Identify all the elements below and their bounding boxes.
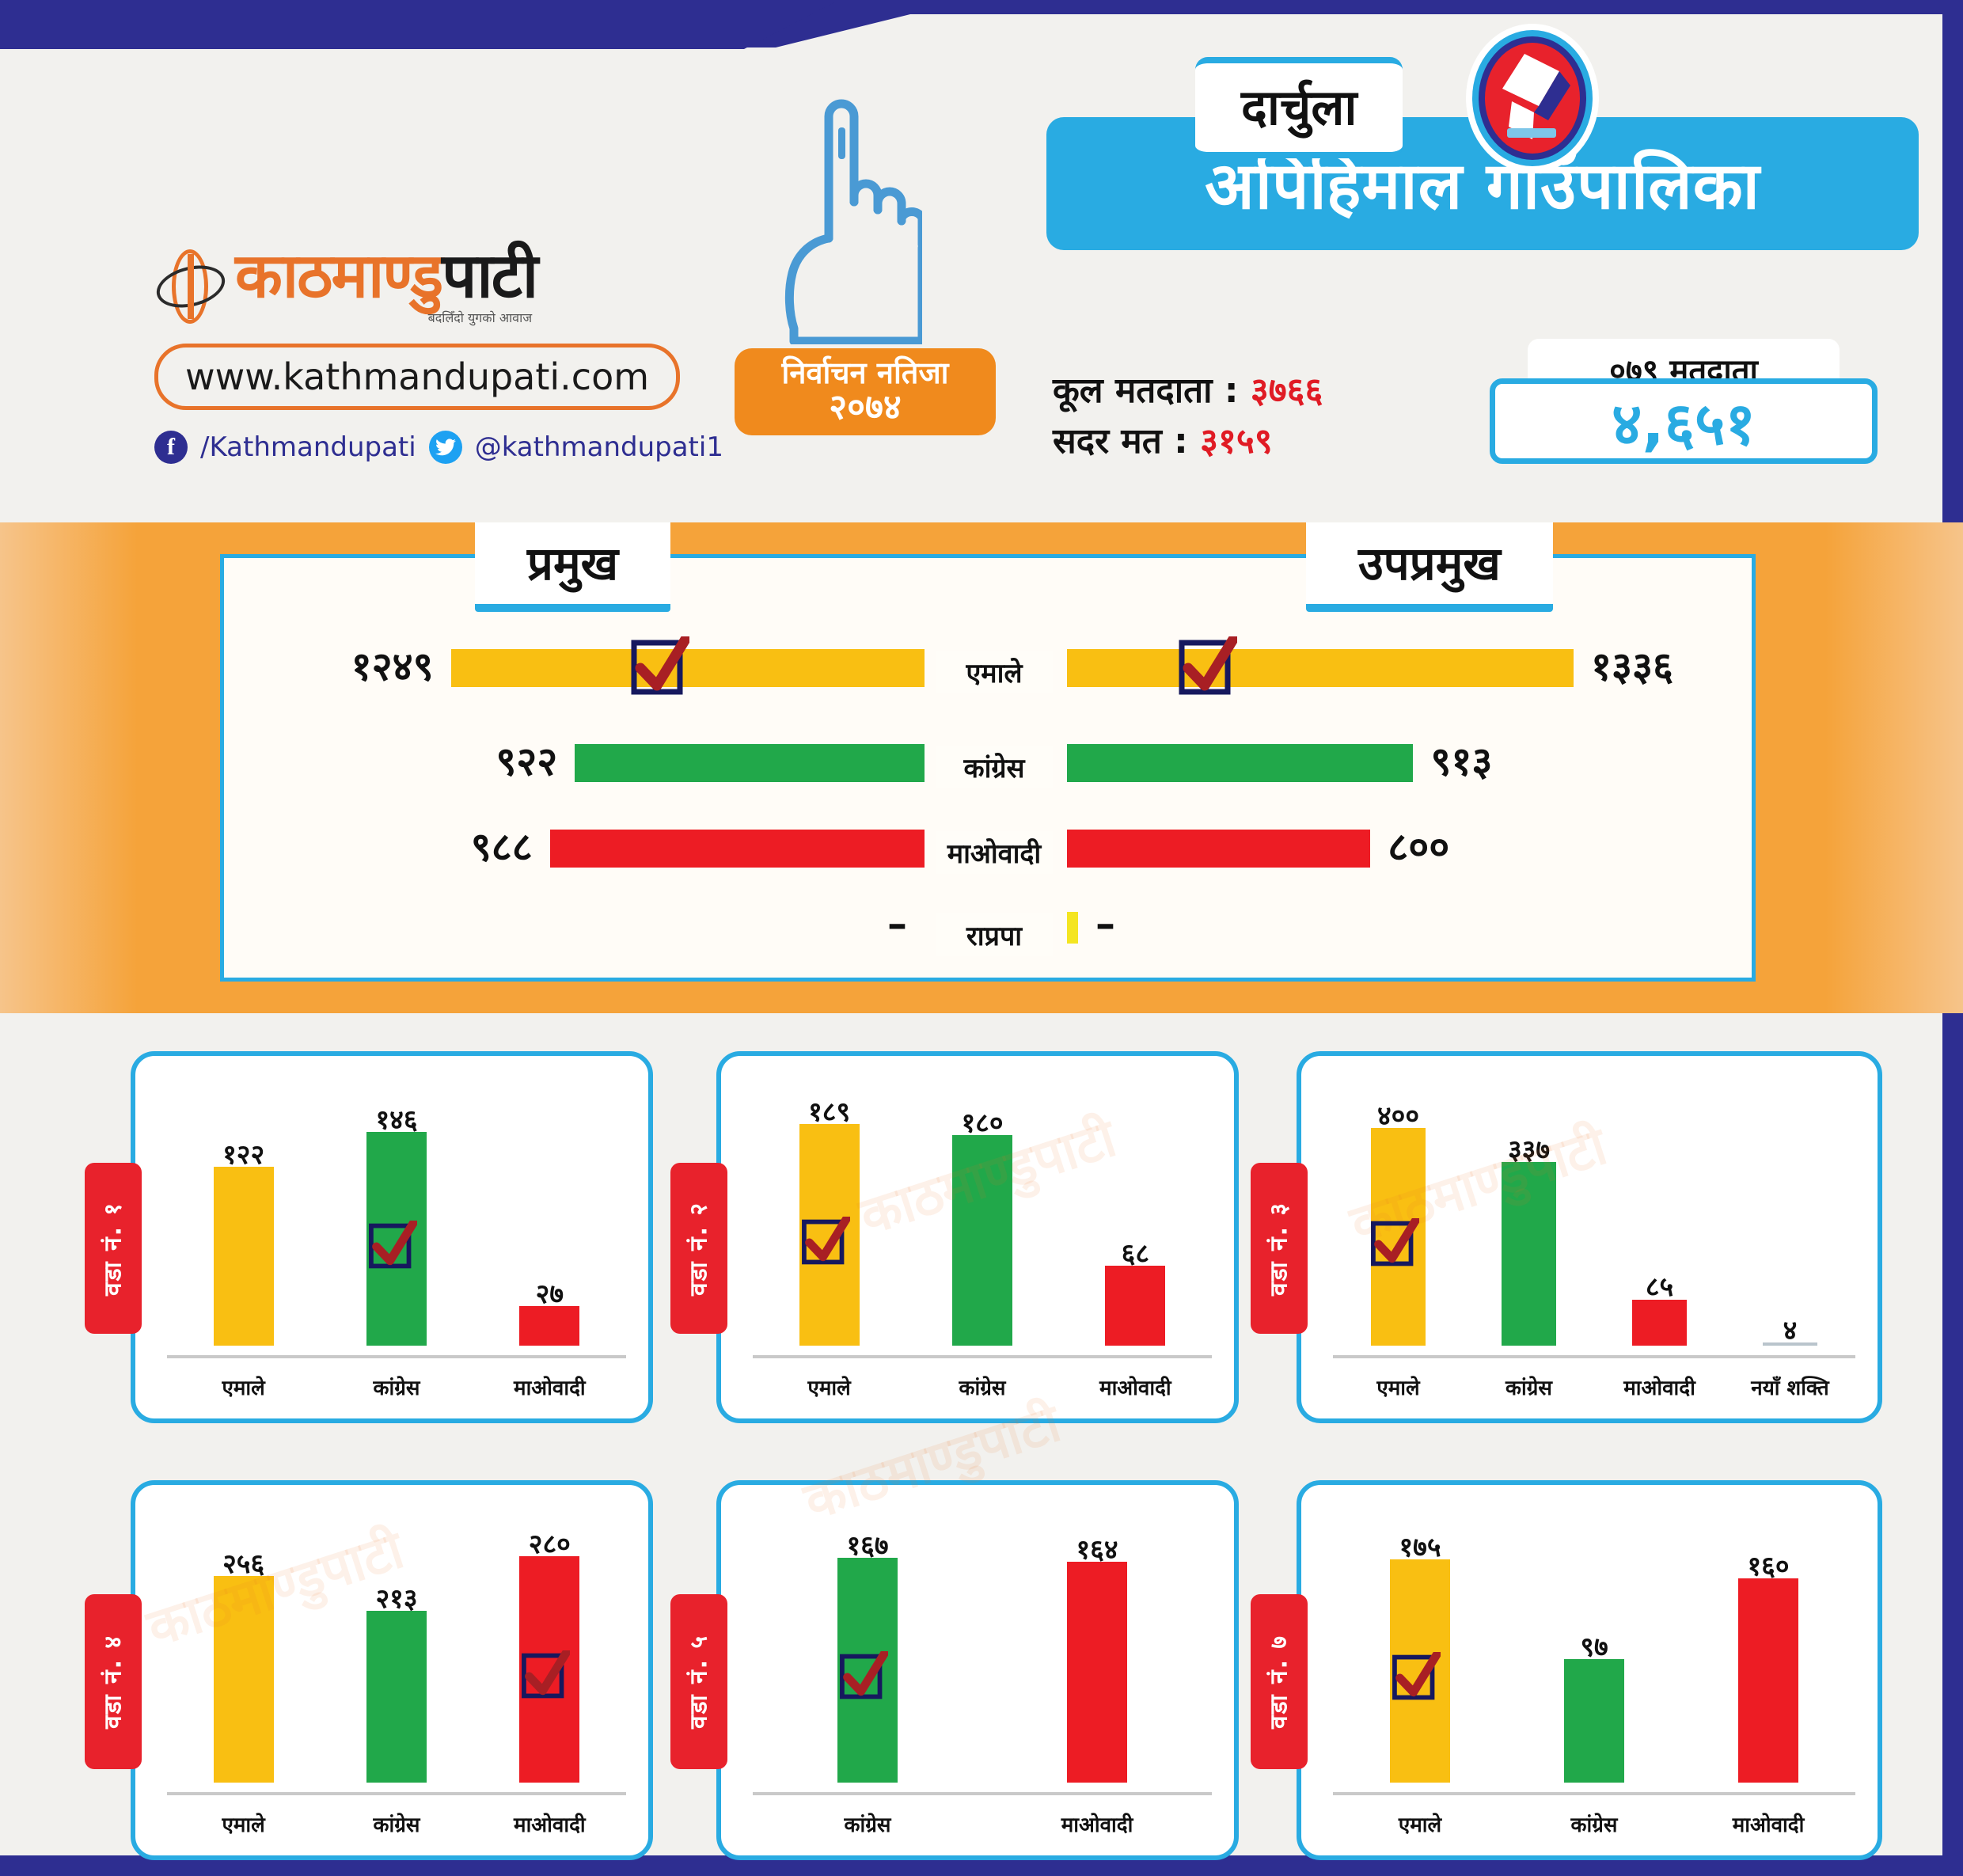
mayor-bar-value: १२४९ [351, 638, 434, 692]
ward-bar-value: १६७ [812, 1526, 923, 1563]
deputy-bar-value: – [1095, 901, 1115, 947]
brand-block: काठमाण्डुपाटी बदलिँदो युगको आवाज www.kat… [154, 245, 661, 464]
ward-bar-value: १८९ [774, 1092, 885, 1129]
ward-bar-value: २७ [494, 1274, 605, 1311]
twitter-icon[interactable] [429, 431, 462, 464]
ward-chart-axis [753, 1792, 1212, 1795]
ward-bar-value: २५६ [188, 1544, 299, 1581]
ward-category-label: कांग्रेस [1458, 1373, 1600, 1401]
ward-category-label: एमाले [173, 1373, 315, 1401]
total-voters-row: कूल मतदाता : ३७६६ [1053, 366, 1323, 416]
ward-category-label: नयाँ शक्ति [1719, 1373, 1862, 1401]
ward-category-label: माओवादी [1026, 1810, 1168, 1838]
ward-bar-value: १२२ [188, 1135, 299, 1172]
ward-category-label: कांग्रेस [1523, 1810, 1665, 1838]
ward-chart-axis [167, 1355, 626, 1358]
ward-winner-check-icon [839, 1651, 887, 1700]
ward-category-label: एमाले [1327, 1373, 1470, 1401]
mayor-winner-check-icon [631, 636, 689, 698]
ward-bar-value: ४ [1735, 1311, 1846, 1347]
ward-bar-value: १६४ [1042, 1530, 1152, 1566]
ward-winner-check-icon [1370, 1218, 1418, 1267]
mayor-bar-row: ९२२ [575, 744, 925, 782]
ward-card[interactable]: १६७कांग्रेस१६४माओवादी [716, 1480, 1239, 1860]
ward-bar-value: २८० [494, 1525, 605, 1561]
header: काठमाण्डुपाटी बदलिँदो युगको आवाज www.kat… [0, 0, 1963, 522]
ward-number-tag: वडा नं. ४ [85, 1594, 142, 1769]
election-commission-seal-icon [1466, 24, 1599, 173]
ward-bar-value: २१३ [341, 1579, 452, 1616]
deputy-bar-row: ९१३ [1067, 744, 1413, 782]
ward-number-tag: वडा नं. ५ [670, 1594, 727, 1769]
ward-bar-value: १६० [1713, 1547, 1824, 1583]
ward-bar [1564, 1659, 1624, 1783]
brand-name-part1: काठमाण्डु [235, 241, 442, 312]
ward-card[interactable]: १२२एमाले१४६कांग्रेस२७माओवादी [131, 1051, 653, 1423]
mayor-bar [575, 744, 925, 782]
deputy-bar [1067, 830, 1370, 868]
website-url[interactable]: www.kathmandupati.com [154, 344, 680, 410]
ward-chart-axis [753, 1355, 1212, 1358]
ward-category-label: एमाले [173, 1810, 315, 1838]
ward-winner-check-icon [368, 1221, 416, 1270]
total-voters-value: ३७६६ [1251, 370, 1323, 411]
ward-number-tag: वडा नं. ७ [1251, 1594, 1308, 1769]
ward-number-tag: वडा नं. २ [670, 1163, 727, 1334]
valid-votes-value: ३१५९ [1200, 421, 1273, 461]
ward-bar-value: ३३७ [1474, 1130, 1585, 1167]
total-voters-label: कूल मतदाता : [1053, 370, 1238, 411]
social-links: f /Kathmandupati @kathmandupati1 [154, 431, 661, 464]
valid-votes-label: सदर मत : [1053, 421, 1188, 461]
ward-card[interactable]: १८९एमाले१८०कांग्रेस६८माओवादी [716, 1051, 1239, 1423]
brand-wordmark: काठमाण्डुपाटी [235, 245, 537, 307]
deputy-bar [1067, 912, 1078, 944]
ward-bar-value: १४६ [341, 1100, 452, 1137]
mayor-title: प्रमुख [475, 522, 670, 612]
ward-number-tag: वडा नं. ३ [1251, 1163, 1308, 1334]
election-result-badge: निर्वाचन नतिजा २०७४ [735, 348, 996, 435]
deputy-bar-row: – [1067, 912, 1078, 950]
ward-bar [214, 1167, 274, 1346]
ward-number-tag: वडा नं. १ [85, 1163, 142, 1334]
mayor-bar-row: ९८८ [550, 830, 925, 868]
party-label: एमाले [936, 651, 1053, 693]
deputy-bar-row: १३३६ [1067, 649, 1574, 687]
ward-card[interactable]: ४००एमाले३३७कांग्रेस८५माओवादी४नयाँ शक्ति [1297, 1051, 1882, 1423]
brand-logo-row: काठमाण्डुपाटी बदलिँदो युगको आवाज [154, 245, 661, 326]
ward-bar [1632, 1300, 1687, 1346]
ward-bar-value: ९७ [1539, 1627, 1650, 1664]
ward-category-label: माओवादी [478, 1373, 621, 1401]
ward-bar [1738, 1578, 1798, 1783]
ward-card[interactable]: १७५एमाले९७कांग्रेस१६०माओवादी [1297, 1480, 1882, 1860]
ward-category-label: माओवादी [478, 1810, 621, 1838]
ward-category-label: माओवादी [1697, 1810, 1840, 1838]
ward-bar [214, 1576, 274, 1783]
ward-bar-value: ८५ [1604, 1267, 1715, 1304]
ward-bar-value: १७५ [1365, 1528, 1475, 1564]
deputy-bar [1067, 744, 1413, 782]
ward-bar-value: १८० [927, 1103, 1038, 1140]
ward-chart-axis [1333, 1355, 1855, 1358]
voting-finger-icon [772, 83, 922, 344]
deputy-winner-check-icon [1179, 636, 1237, 698]
election-badge-line1: निर्वाचन नतिजा [782, 358, 949, 389]
deputy-bar-value: ९१३ [1430, 733, 1492, 787]
valid-votes-row: सदर मत : ३१५९ [1053, 416, 1323, 467]
ward-winner-check-icon [521, 1650, 568, 1699]
ward-bar [952, 1135, 1012, 1346]
ward-card[interactable]: २५६एमाले२१३कांग्रेस२८०माओवादी [131, 1480, 653, 1860]
ward-bar [519, 1306, 579, 1346]
mayor-bar-value: – [887, 901, 907, 947]
ward-chart-axis [167, 1792, 626, 1795]
brand-name-part2: पाटी [442, 241, 537, 312]
kathmandupati-logo-icon [154, 246, 227, 325]
twitter-bird-glyph [435, 439, 456, 456]
ward-winner-check-icon [801, 1217, 849, 1266]
ward-bar [366, 1611, 427, 1783]
election-badge-line2: २०७४ [829, 389, 902, 426]
party-label: राप्रपा [936, 913, 1053, 956]
population-value: ४,६५१ [1490, 378, 1878, 464]
ward-category-label: एमाले [758, 1373, 901, 1401]
ward-category-label: कांग्रेस [911, 1373, 1054, 1401]
ward-bar-value: ६८ [1080, 1234, 1190, 1270]
deputy-bar-row: ८०० [1067, 830, 1370, 868]
party-label: माओवादी [936, 831, 1053, 874]
deputy-bar [1067, 649, 1574, 687]
twitter-handle[interactable]: @kathmandupati1 [475, 431, 723, 463]
ward-winner-check-icon [1392, 1652, 1439, 1701]
voter-stats: कूल मतदाता : ३७६६ सदर मत : ३१५९ [1053, 366, 1323, 467]
party-label: कांग्रेस [936, 746, 1053, 788]
ward-category-label: एमाले [1349, 1810, 1491, 1838]
ward-bar-value: ४०० [1343, 1096, 1454, 1133]
ward-chart-axis [1333, 1792, 1855, 1795]
deputy-mayor-title: उपप्रमुख [1306, 522, 1553, 612]
mayor-bar-value: ९२२ [495, 733, 557, 787]
ward-bar [1105, 1266, 1165, 1346]
deputy-bar-value: १३३६ [1591, 638, 1673, 692]
facebook-handle[interactable]: /Kathmandupati [200, 431, 416, 463]
ward-bar [1502, 1162, 1556, 1346]
ward-category-label: माओवादी [1589, 1373, 1731, 1401]
ward-category-label: माओवादी [1064, 1373, 1206, 1401]
district-name: दार्चुला [1195, 57, 1403, 158]
mayor-bar-value: ९८८ [471, 818, 533, 872]
mayor-bar [550, 830, 925, 868]
ward-category-label: कांग्रेस [325, 1810, 468, 1838]
ward-bar [1067, 1562, 1127, 1783]
ward-category-label: कांग्रेस [325, 1373, 468, 1401]
ward-category-label: कांग्रेस [796, 1810, 939, 1838]
deputy-bar-value: ८०० [1388, 818, 1449, 872]
facebook-icon[interactable]: f [154, 431, 188, 464]
